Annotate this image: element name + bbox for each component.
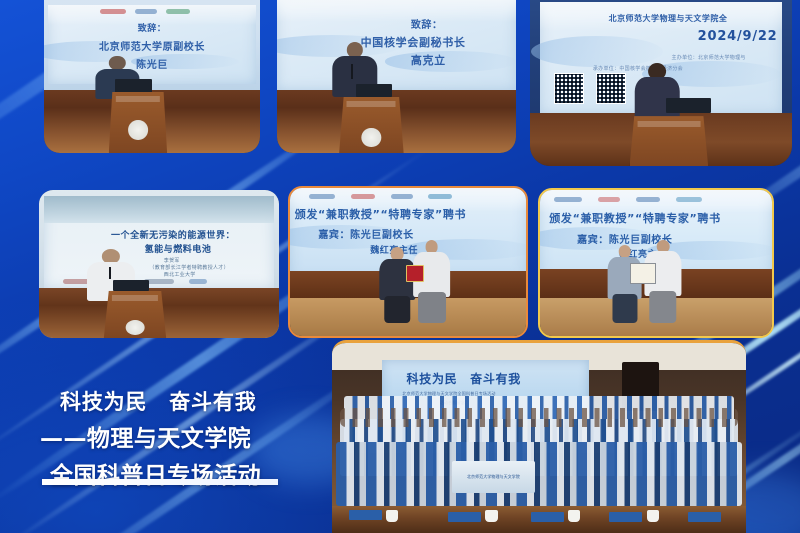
slide-line-2: 嘉宾：陈光巨副校长 [318, 226, 413, 241]
qr-code-left [554, 73, 585, 103]
photo-lecture-gao[interactable]: 致辞： 中国核学会副秘书长 高克立 [277, 0, 516, 153]
photo-award-certificate[interactable]: 颁发“兼职教授”“特聘专家”聘书 嘉宾：陈光巨副校长 魏红亮主任 [538, 188, 774, 338]
podium [109, 92, 167, 153]
photo-lecture-chen[interactable]: 致辞： 北京师范大学原副校长 陈光巨 [44, 0, 260, 153]
qr-code-right [596, 73, 627, 103]
microphone [109, 267, 111, 279]
red-certificate-folder [406, 265, 425, 282]
slide-line-1: 颁发“兼职教授”“特聘专家”聘书 [549, 210, 720, 226]
group-banner: 北京师范大学物理与天文学院 [452, 461, 535, 493]
slide-title: 北京师范大学物理与天文学院全 [609, 13, 728, 24]
water-cup [647, 510, 659, 521]
microphone [351, 64, 353, 79]
speaker-figure [635, 63, 680, 124]
photo-host-woman[interactable]: 北京师范大学物理与天文学院全 2024/9/22 主办单位：北京师范大学物理与 … [530, 0, 792, 166]
photo-lecture-hydrogen[interactable]: 一个全新无污染的能源世界： 氢能与燃料电池 李贺军 （教育部长江学者特聘教授人才… [39, 190, 279, 338]
podium [630, 116, 709, 166]
framed-certificate [630, 263, 655, 284]
title-line-2: ——物理与天文学院 [40, 419, 342, 453]
slide-line-2: 北京师范大学原副校长 [99, 38, 205, 53]
group-banner-text: 北京师范大学物理与天文学院 [467, 474, 520, 480]
crowd-heads [340, 408, 737, 427]
slide-sub-3: 西北工业大学 [164, 271, 196, 278]
slide-logo-row [100, 9, 212, 14]
name-placard [609, 512, 642, 522]
podium [104, 291, 166, 338]
podium [339, 97, 404, 153]
slide-line-1: 一个全新无污染的能源世界： [111, 228, 235, 241]
poster-title-block: 科技为民 奋斗有我 ——物理与天文学院 全国科普日专场活动 [42, 386, 342, 490]
photo-group[interactable]: 科技为民 奋斗有我 北京师范大学物理与天文学院全国科普日专场活动 活动合影留念 … [332, 340, 746, 533]
slide-line-1: 颁发“兼职教授”“特聘专家”聘书 [295, 206, 466, 222]
slide-date: 2024/9/22 [698, 29, 778, 44]
slide-line-3: 高克立 [411, 52, 446, 68]
title-underline-rule [42, 479, 278, 485]
name-placard [531, 512, 564, 522]
slide-line-1: 致辞： [411, 16, 443, 31]
slide-sub-2: （教育部长江学者特聘教授人才） [149, 264, 229, 271]
water-cup [568, 510, 580, 521]
title-line-1: 科技为民 奋斗有我 [60, 386, 342, 416]
slide-logo-row [309, 194, 507, 199]
slide-sub-1: 李贺军 [164, 257, 180, 264]
poster-canvas: 致辞： 北京师范大学原副校长 陈光巨 [0, 0, 800, 533]
slide-line-1: 致辞： [138, 21, 167, 34]
photo-award-red-folder[interactable]: 颁发“兼职教授”“特聘专家”聘书 嘉宾：陈光巨副校长 魏红亮主任 [288, 186, 528, 338]
slide-logo-row [554, 197, 754, 202]
name-placard [448, 512, 481, 522]
award-recipient-figure [380, 247, 415, 321]
slide-line-3: 陈光巨 [136, 56, 168, 71]
crowd-row-front [336, 442, 742, 507]
water-cup [386, 510, 398, 521]
group-slide-title: 科技为民 奋斗有我 [407, 370, 521, 387]
name-placard [688, 512, 721, 522]
name-placard [349, 510, 382, 520]
water-cup [485, 510, 497, 521]
slide-subline-1: 主办单位：北京师范大学物理与 [671, 54, 745, 61]
slide-line-2: 氢能与燃料电池 [145, 242, 212, 255]
